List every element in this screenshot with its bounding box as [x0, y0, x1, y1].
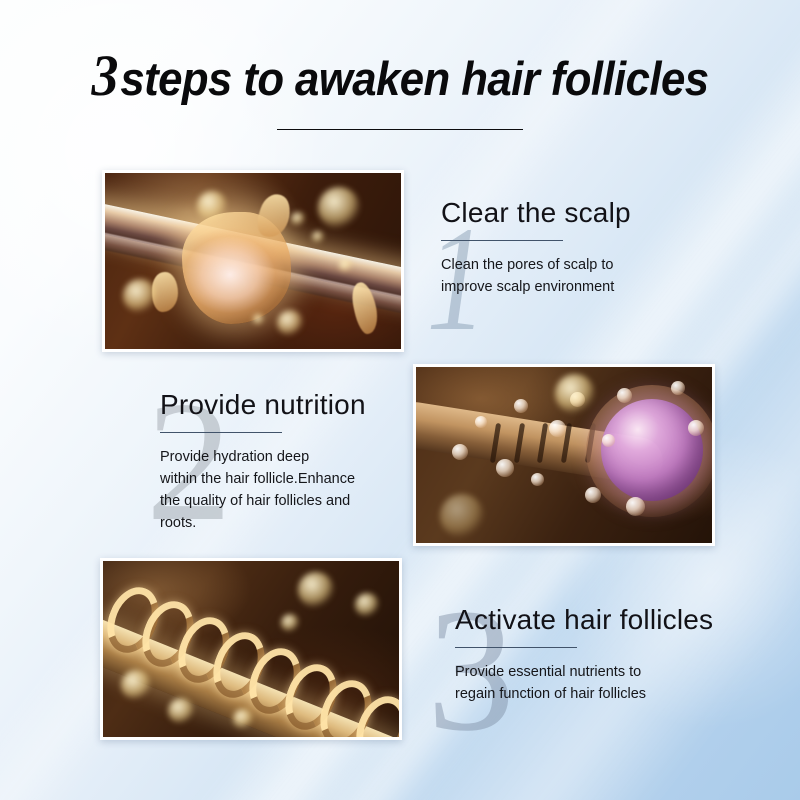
bokeh-light — [339, 259, 352, 272]
bokeh-light — [355, 593, 379, 617]
bokeh-light — [233, 709, 253, 729]
step-2-divider — [160, 432, 282, 433]
step-1-divider — [441, 240, 563, 241]
hair-cuticle-spiral-image — [100, 558, 402, 740]
nutrient-bubble — [549, 420, 566, 437]
nutrient-bubble — [452, 444, 468, 460]
nutrient-bubble — [688, 420, 704, 436]
image-content — [416, 367, 712, 543]
bokeh-light — [440, 494, 484, 538]
step-3-body: Provide essential nutrients to regain fu… — [455, 661, 713, 705]
bokeh-light — [277, 310, 303, 336]
page-title: 3steps to awaken hair follicles — [28, 46, 772, 107]
step-2-block: 2 Provide nutrition Provide hydration de… — [160, 390, 366, 534]
step-3-heading: Activate hair follicles — [455, 605, 713, 636]
hair-follicle-bulb-image — [413, 364, 715, 546]
step-1-body: Clean the pores of scalp to improve scal… — [441, 254, 631, 298]
bokeh-light — [555, 374, 595, 414]
bokeh-light — [123, 279, 157, 313]
nutrient-bubble — [585, 487, 601, 503]
image-content — [103, 561, 399, 737]
infographic-canvas: 3steps to awaken hair follicles — [0, 0, 800, 800]
nutrient-bubble — [531, 473, 544, 486]
image-content — [105, 173, 401, 349]
nutrient-bubble — [671, 381, 685, 395]
title-divider — [277, 129, 523, 130]
nutrient-bubble — [496, 459, 514, 477]
bokeh-light — [281, 614, 299, 632]
step-1-heading: Clear the scalp — [441, 198, 631, 229]
bokeh-light — [121, 670, 151, 700]
nutrient-bubble — [514, 399, 528, 413]
title-number: 3 — [92, 43, 121, 108]
bokeh-light — [318, 187, 360, 229]
bokeh-light — [197, 191, 227, 221]
step-3-divider — [455, 647, 577, 648]
bokeh-light — [298, 572, 334, 608]
step-1-block: 1 Clear the scalp Clean the pores of sca… — [441, 198, 631, 298]
step-2-body: Provide hydration deep within the hair f… — [160, 446, 366, 534]
bokeh-light — [253, 314, 264, 325]
step-3-block: 3 Activate hair follicles Provide essent… — [455, 605, 713, 705]
follicle-bulb — [601, 399, 703, 501]
page-header: 3steps to awaken hair follicles — [0, 46, 800, 130]
hair-shaft-serum-image — [102, 170, 404, 352]
title-text: steps to awaken hair follicles — [120, 52, 708, 105]
step-2-heading: Provide nutrition — [160, 390, 366, 421]
